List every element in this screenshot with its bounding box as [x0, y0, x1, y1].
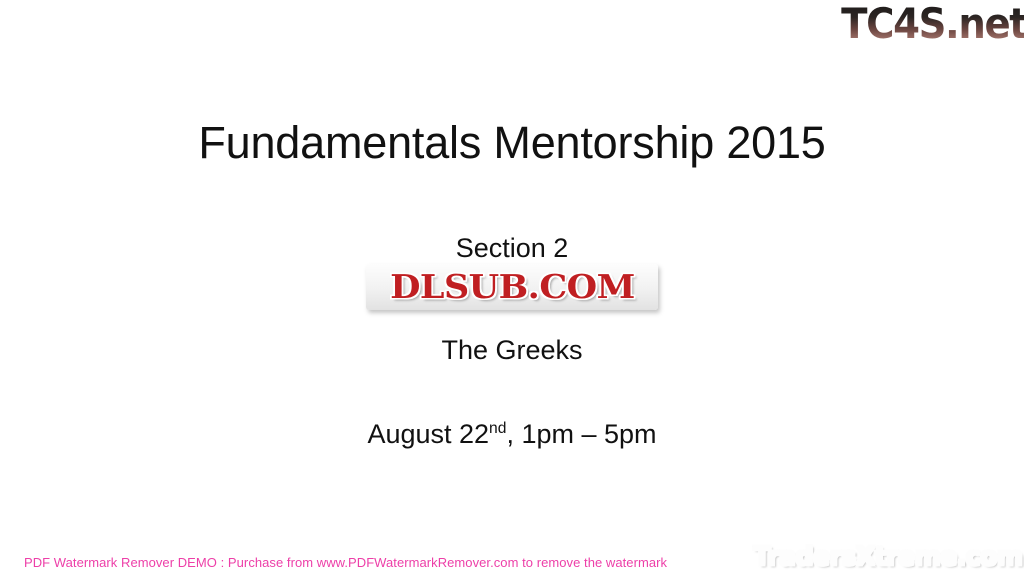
tradersxtreme-watermark-logo: TradersXtreme.com: [753, 542, 1022, 572]
date-prefix: August 22: [367, 419, 489, 449]
tc4s-watermark-logo: TC4S.net: [841, 2, 1024, 46]
slide-date-line: August 22nd, 1pm – 5pm: [0, 418, 1024, 450]
section-label: Section 2: [0, 232, 1024, 264]
date-time-range: , 1pm – 5pm: [506, 419, 656, 449]
date-ordinal-suffix: nd: [489, 420, 506, 437]
dlsub-watermark-logo: DLSUB.COM: [366, 264, 658, 310]
slide-title: Fundamentals Mentorship 2015: [0, 118, 1024, 168]
dlsub-watermark-label: DLSUB.COM: [390, 270, 635, 304]
presentation-slide: TC4S.net Fundamentals Mentorship 2015 Se…: [0, 0, 1024, 576]
tradersxtreme-watermark-label: TradersXtreme.com: [753, 542, 1022, 572]
slide-subtitle: The Greeks: [0, 334, 1024, 366]
pdf-watermark-notice: PDF Watermark Remover DEMO : Purchase fr…: [24, 555, 667, 570]
